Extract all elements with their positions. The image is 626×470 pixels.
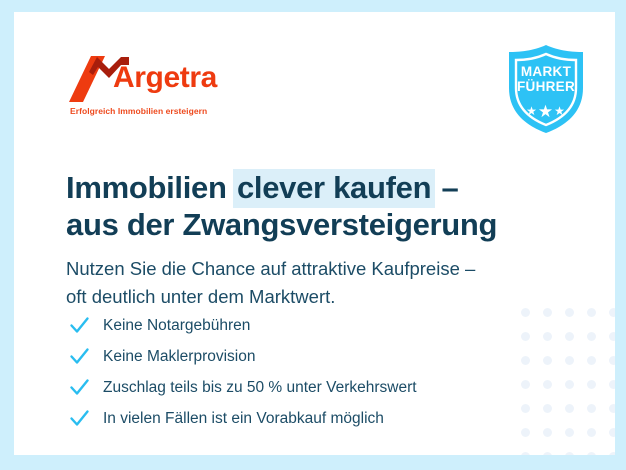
logo-wordmark: Argetra <box>113 63 217 93</box>
list-item-label: Keine Maklerprovision <box>103 347 256 367</box>
list-item: Zuschlag teils bis zu 50 % unter Verkehr… <box>69 372 499 403</box>
decorative-dot <box>543 452 552 455</box>
list-item: In vielen Fällen ist ein Vorabkauf mögli… <box>69 403 499 434</box>
list-item-label: Keine Notargebühren <box>103 316 250 336</box>
badge-line-1: MARKT <box>503 65 589 80</box>
dot-grid-decoration <box>521 308 615 455</box>
decorative-dot <box>565 308 574 317</box>
star-icon-right: ★ <box>554 104 566 118</box>
check-icon <box>69 315 90 336</box>
decorative-dot <box>587 356 596 365</box>
decorative-dot <box>609 452 615 455</box>
decorative-dot <box>587 308 596 317</box>
market-leader-badge: MARKT FÜHRER ★★★ <box>503 43 589 135</box>
decorative-dot <box>521 452 530 455</box>
subheadline-line2: oft deutlich unter dem Marktwert. <box>66 286 335 307</box>
argetra-logo[interactable]: Argetra Erfolgreich Immobilien ersteiger… <box>69 56 249 118</box>
decorative-dot <box>565 332 574 341</box>
decorative-dot <box>543 380 552 389</box>
benefits-list: Keine NotargebührenKeine Maklerprovision… <box>69 310 499 434</box>
decorative-dot <box>521 404 530 413</box>
list-item: Keine Maklerprovision <box>69 341 499 372</box>
decorative-dot <box>521 356 530 365</box>
badge-text: MARKT FÜHRER <box>503 65 589 94</box>
decorative-dot <box>609 380 615 389</box>
decorative-dot <box>565 380 574 389</box>
list-item: Keine Notargebühren <box>69 310 499 341</box>
headline-line2: aus der Zwangsversteigerung <box>66 207 497 242</box>
decorative-dot <box>587 380 596 389</box>
decorative-dot <box>609 308 615 317</box>
check-icon <box>69 408 90 429</box>
page-subheadline: Nutzen Sie die Chance auf attraktive Kau… <box>66 255 536 311</box>
headline-highlight: clever kaufen <box>233 169 435 208</box>
decorative-dot <box>521 428 530 437</box>
decorative-dot <box>543 356 552 365</box>
decorative-dot <box>521 380 530 389</box>
page-headline: Immobilien clever kaufen –aus der Zwangs… <box>66 169 536 243</box>
headline-line1-suffix: – <box>433 170 458 205</box>
logo-tagline: Erfolgreich Immobilien ersteigern <box>70 106 207 116</box>
decorative-dot <box>565 356 574 365</box>
decorative-dot <box>609 404 615 413</box>
decorative-dot <box>543 428 552 437</box>
check-icon <box>69 377 90 398</box>
decorative-dot <box>543 404 552 413</box>
decorative-dot <box>521 332 530 341</box>
decorative-dot <box>565 452 574 455</box>
decorative-dot <box>543 332 552 341</box>
card-surface: Argetra Erfolgreich Immobilien ersteiger… <box>14 12 615 455</box>
decorative-dot <box>587 428 596 437</box>
subheadline-line1: Nutzen Sie die Chance auf attraktive Kau… <box>66 258 475 279</box>
check-icon <box>69 346 90 367</box>
headline-line1-prefix: Immobilien <box>66 170 235 205</box>
decorative-dot <box>565 404 574 413</box>
list-item-label: In vielen Fällen ist ein Vorabkauf mögli… <box>103 409 384 429</box>
decorative-dot <box>609 356 615 365</box>
decorative-dot <box>609 428 615 437</box>
list-item-label: Zuschlag teils bis zu 50 % unter Verkehr… <box>103 378 417 398</box>
decorative-dot <box>587 404 596 413</box>
decorative-dot <box>565 428 574 437</box>
decorative-dot <box>609 332 615 341</box>
decorative-dot <box>543 308 552 317</box>
decorative-dot <box>587 332 596 341</box>
promo-banner: Argetra Erfolgreich Immobilien ersteiger… <box>0 0 626 470</box>
badge-line-2: FÜHRER <box>503 80 589 95</box>
star-icon-center: ★ <box>538 102 554 121</box>
star-icon-left: ★ <box>526 104 538 118</box>
badge-stars: ★★★ <box>503 102 589 122</box>
decorative-dot <box>587 452 596 455</box>
